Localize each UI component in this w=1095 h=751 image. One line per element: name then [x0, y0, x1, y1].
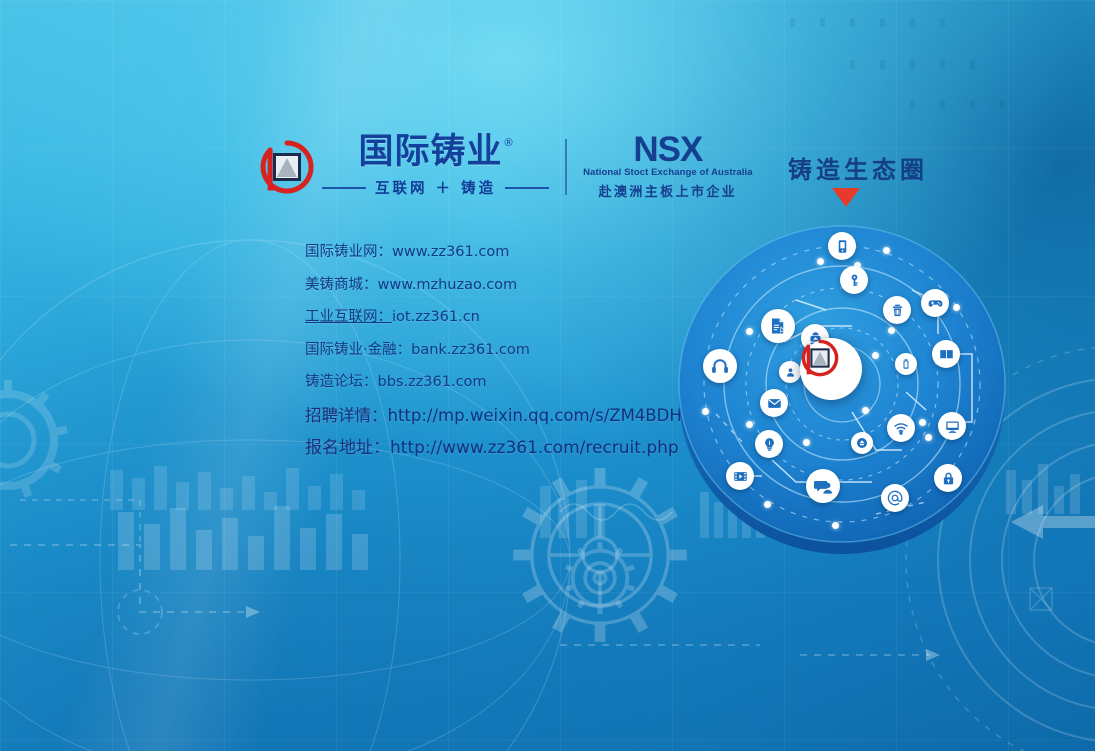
tagline-rule-left	[322, 187, 366, 189]
wifi-icon[interactable]	[887, 414, 915, 442]
registered-mark: ®	[505, 137, 513, 149]
gamepad-icon[interactable]	[921, 289, 949, 317]
orbit-dot	[925, 434, 932, 441]
mobile-phone-icon[interactable]	[828, 232, 856, 260]
orbit-dot	[746, 421, 753, 428]
ecosystem-graphic	[676, 214, 1016, 554]
orbit-dot	[764, 501, 771, 508]
company-seal-logo-icon	[800, 338, 840, 378]
company-seal-logo-icon	[258, 138, 316, 196]
site-link-label: 工业互联网：	[305, 309, 392, 325]
trash-bin-icon[interactable]	[883, 296, 911, 324]
key-icon[interactable]	[840, 266, 868, 294]
brand-tagline-row: 互联网 ＋ 铸造	[322, 177, 549, 198]
site-link-label: 报名地址：	[305, 438, 390, 458]
ecosystem-title: 铸造生态圈	[768, 150, 948, 185]
person-lock-icon[interactable]	[779, 361, 801, 383]
site-link-url[interactable]: http://www.zz361.com/recruit.php	[390, 438, 679, 458]
poster-canvas: 国际铸业 ® 互联网 ＋ 铸造 NSX National Stoct Excha…	[0, 0, 1095, 751]
battery-icon[interactable]	[895, 353, 917, 375]
site-link-label: 国际铸业网：	[305, 244, 392, 260]
site-link-url[interactable]: bank.zz361.com	[411, 342, 530, 358]
brand-divider	[565, 139, 567, 195]
monitor-icon[interactable]	[938, 412, 966, 440]
orbit-dot	[803, 439, 810, 446]
orbit-dot	[832, 522, 839, 529]
orbit-dot	[872, 352, 879, 359]
orbit-dot	[888, 327, 895, 334]
orbit-dot	[883, 247, 890, 254]
site-link-url[interactable]: bbs.zz361.com	[378, 374, 487, 390]
lightbulb-icon[interactable]	[755, 430, 783, 458]
site-link-label: 铸造论坛：	[305, 374, 378, 390]
site-link-url[interactable]: www.mzhuzao.com	[378, 277, 518, 293]
site-link-url[interactable]: www.zz361.com	[392, 244, 509, 260]
brand-tagline: 互联网 ＋ 铸造	[375, 177, 496, 198]
lock-icon[interactable]	[934, 464, 962, 492]
at-sign-icon[interactable]	[881, 484, 909, 512]
document-edit-icon[interactable]	[761, 309, 795, 343]
partner-subtitle-cn: 赴澳洲主板上市企业	[599, 181, 738, 200]
partner-logo-block: NSX National Stoct Exchange of Australia…	[583, 133, 753, 200]
tagline-rule-right	[505, 187, 549, 189]
orbit-dot	[919, 419, 926, 426]
triangle-down-icon	[832, 188, 860, 207]
open-book-icon[interactable]	[932, 340, 960, 368]
envelope-icon[interactable]	[760, 389, 788, 417]
orbit-dot	[702, 408, 709, 415]
user-speech-icon[interactable]	[806, 469, 840, 503]
brand-header: 国际铸业 ® 互联网 ＋ 铸造 NSX National Stoct Excha…	[258, 133, 753, 200]
video-player-icon[interactable]	[726, 462, 754, 490]
site-link-label: 招聘详情：	[305, 406, 388, 425]
orbit-dot	[746, 328, 753, 335]
upload-icon[interactable]	[851, 432, 873, 454]
orbit-dot	[862, 407, 869, 414]
partner-wordmark: NSX	[633, 133, 702, 166]
brand-name-cn: 国际铸业	[358, 135, 502, 170]
site-link-url[interactable]: iot.zz361.cn	[392, 309, 480, 325]
site-link-label: 美铸商城：	[305, 277, 378, 293]
orbit-dot	[817, 258, 824, 265]
headphones-icon[interactable]	[703, 349, 737, 383]
orbit-dot	[953, 304, 960, 311]
brand-name-block: 国际铸业 ® 互联网 ＋ 铸造	[322, 135, 549, 198]
partner-subtitle: National Stoct Exchange of Australia	[583, 167, 753, 178]
site-link-label: 国际铸业·金融：	[305, 342, 411, 358]
ecosystem-center-logo[interactable]	[800, 338, 862, 400]
